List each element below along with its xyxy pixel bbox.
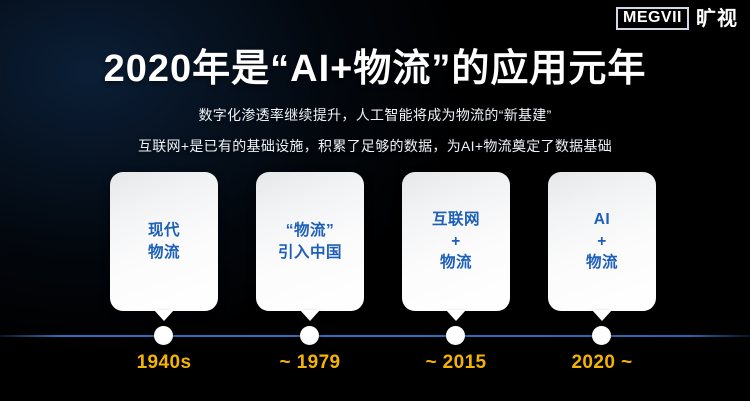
card-line: “物流” (278, 220, 342, 241)
timeline-card-2: “物流” 引入中国 (256, 172, 364, 311)
slide-subtitle-line-1: 数字化渗透率继续提升，人工智能将成为物流的“新基建” (0, 105, 750, 125)
presentation-slide: MEGVII 旷视 2020年是“AI+物流”的应用元年 数字化渗透率继续提升，… (0, 0, 750, 401)
timeline-card-4-text: AI + 物流 (586, 209, 618, 273)
card-pointer-icon (592, 310, 612, 321)
card-line: 现代 (148, 220, 180, 241)
timeline-card-2-text: “物流” 引入中国 (278, 220, 342, 263)
timeline-dot-4-icon (592, 326, 611, 345)
timeline-dot-1-icon (154, 326, 173, 345)
timeline-card-4: AI + 物流 (548, 172, 656, 311)
timeline-dot-2-icon (300, 326, 319, 345)
timeline-card-1: 现代 物流 (110, 172, 218, 311)
megvii-logo: MEGVII 旷视 (616, 7, 738, 30)
card-line: + (586, 231, 618, 252)
card-line: 物流 (586, 252, 618, 273)
card-line: 引入中国 (278, 242, 342, 263)
card-line: + (432, 231, 480, 252)
timeline-date-4: 2020 ~ (537, 352, 667, 374)
card-line: 物流 (432, 252, 480, 273)
timeline-axis-line (0, 335, 750, 337)
card-line: 物流 (148, 242, 180, 263)
card-pointer-icon (300, 310, 320, 321)
card-pointer-icon (154, 310, 174, 321)
card-line: 互联网 (432, 209, 480, 230)
timeline-date-2: ~ 1979 (245, 352, 375, 374)
megvii-chinese-name: 旷视 (696, 9, 738, 29)
timeline-cards: 现代 物流 “物流” 引入中国 互联网 + 物流 AI + 物流 (0, 172, 750, 322)
timeline-date-1: 1940s (99, 352, 229, 374)
card-pointer-icon (446, 310, 466, 321)
slide-subtitle-line-2: 互联网+是已有的基础设施，积累了足够的数据，为AI+物流奠定了数据基础 (0, 136, 750, 156)
megvii-wordmark-icon: MEGVII (616, 7, 689, 30)
timeline-card-3-text: 互联网 + 物流 (432, 209, 480, 273)
card-line: AI (586, 209, 618, 230)
slide-title: 2020年是“AI+物流”的应用元年 (0, 48, 750, 92)
timeline-dot-3-icon (446, 326, 465, 345)
timeline-card-3: 互联网 + 物流 (402, 172, 510, 311)
timeline-card-1-text: 现代 物流 (148, 220, 180, 263)
timeline-date-3: ~ 2015 (391, 352, 521, 374)
